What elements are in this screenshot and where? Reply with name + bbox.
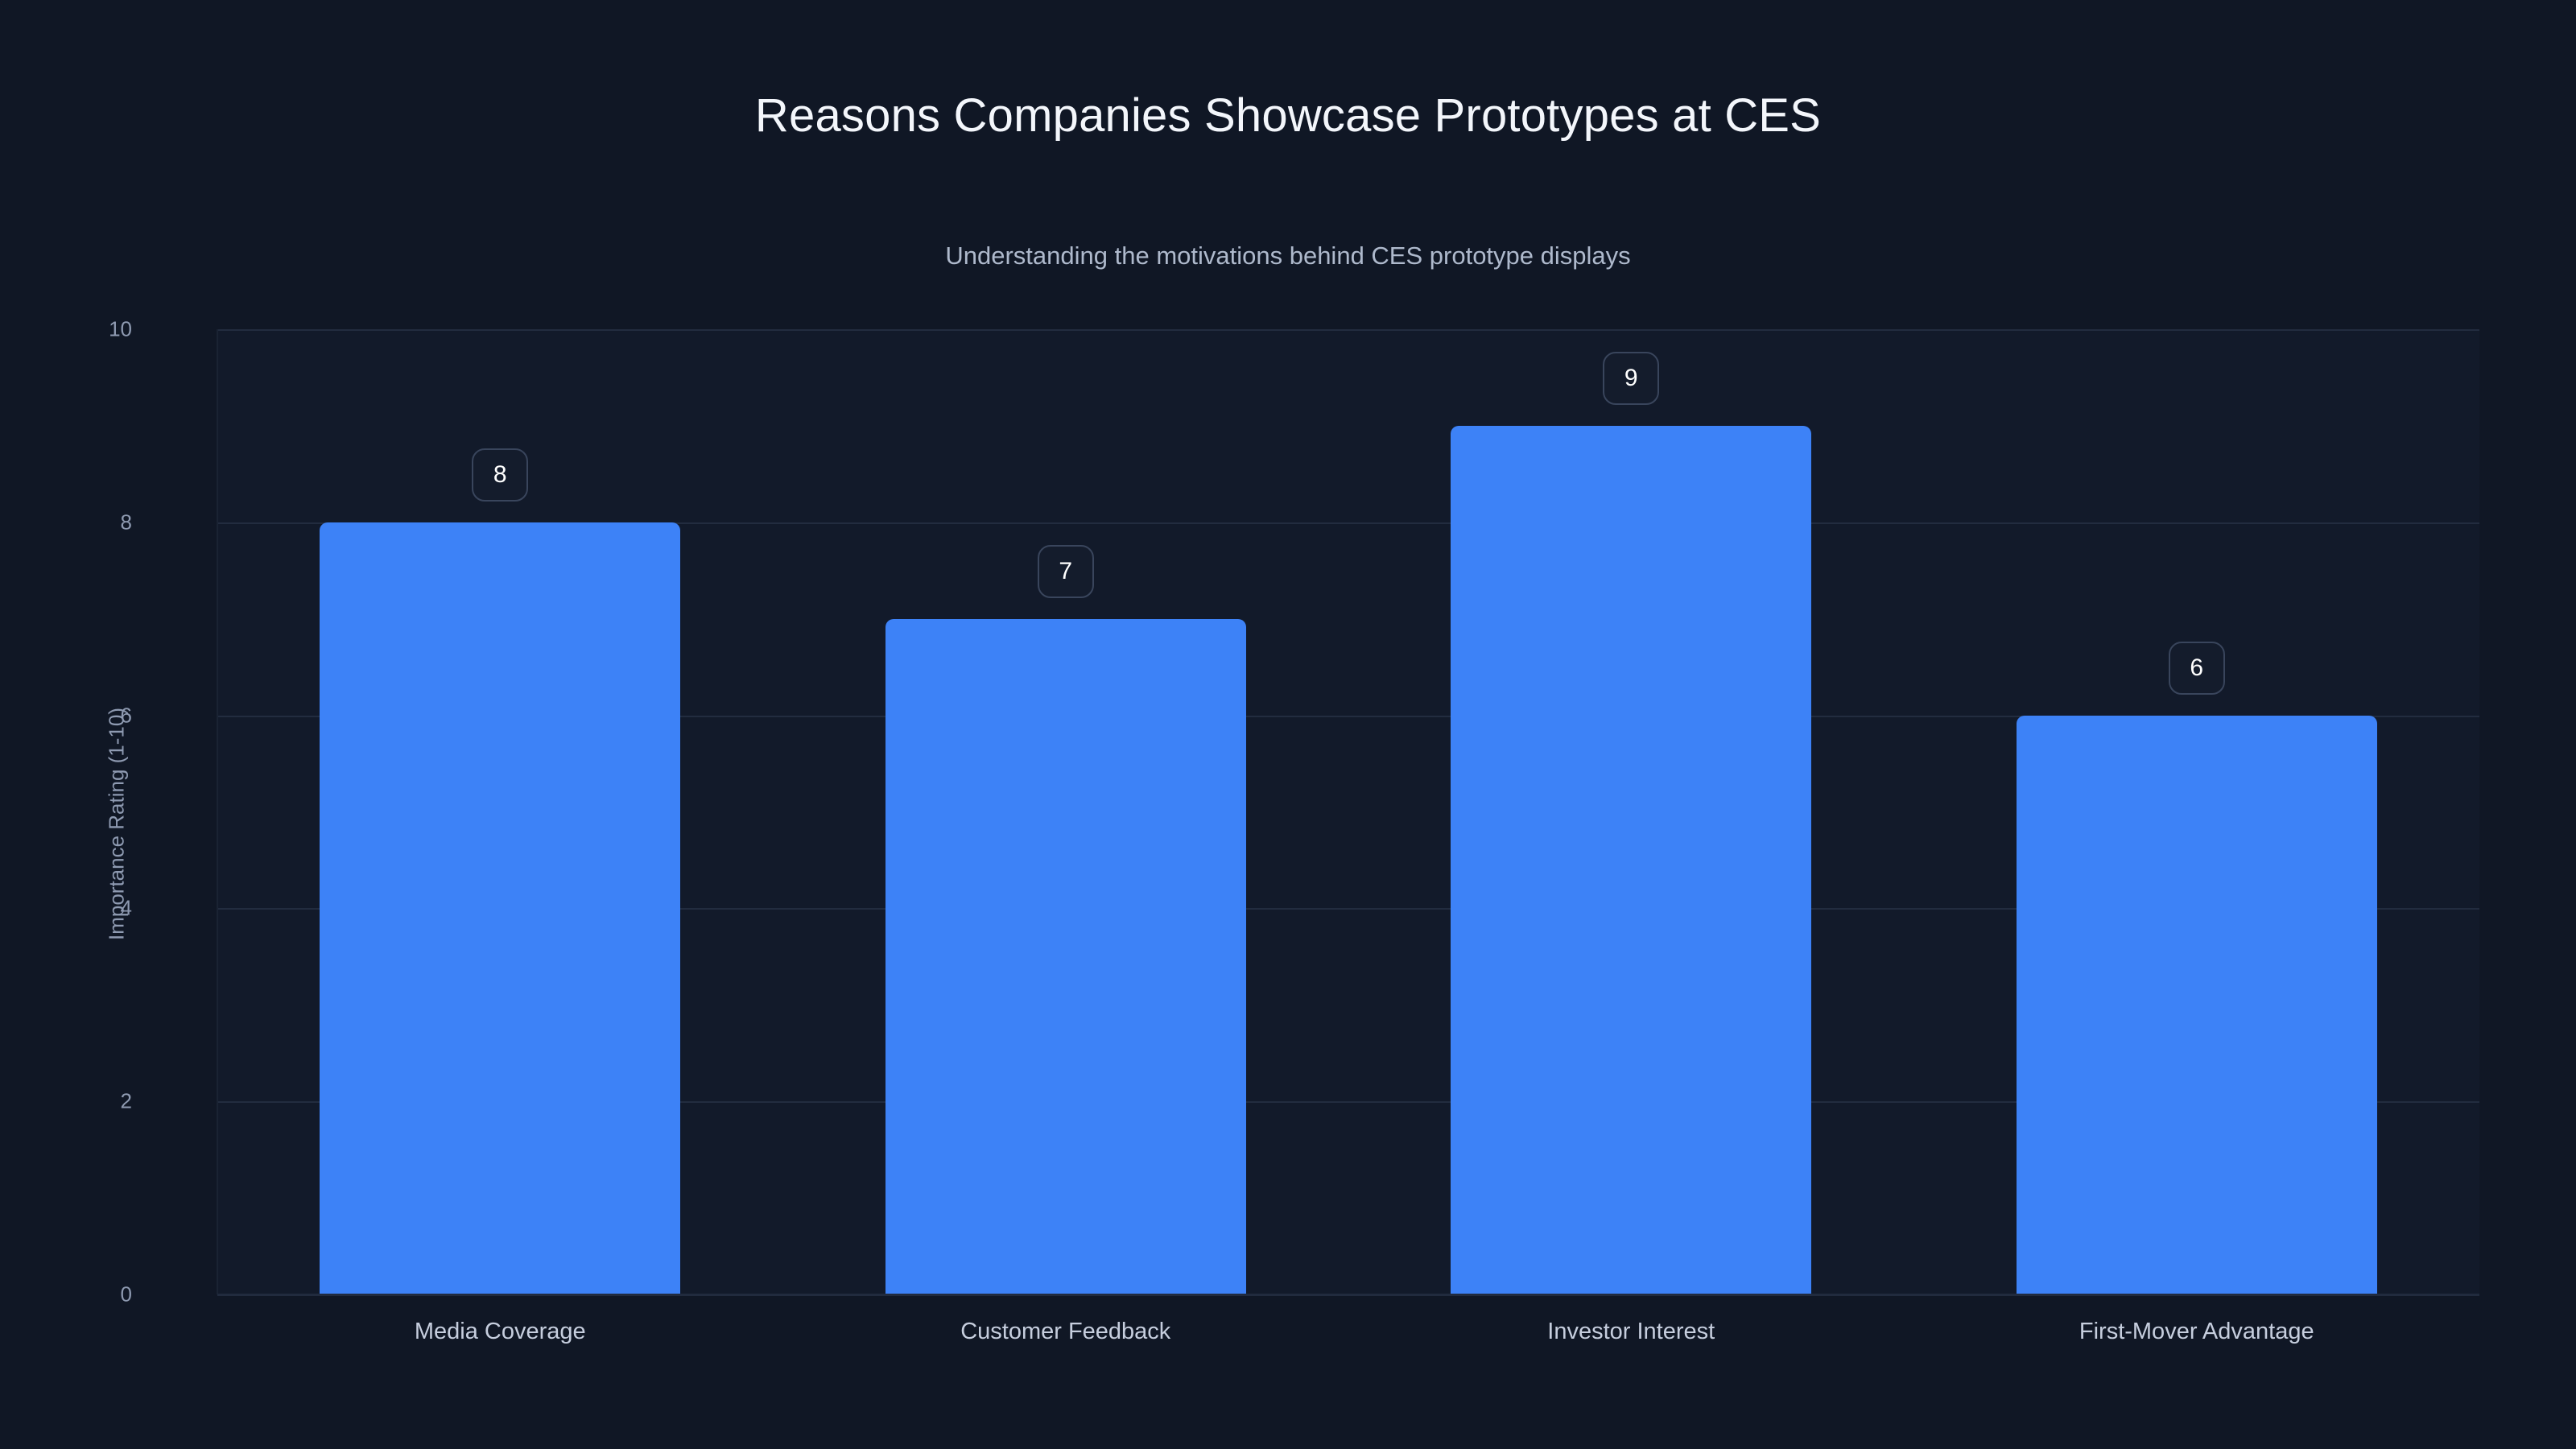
y-axis-tick-label: 2 [35,1089,132,1114]
x-axis-tick-label: First-Mover Advantage [1914,1319,2480,1345]
bar-value-label: 7 [1038,545,1094,598]
bar-group: 6 [1914,329,2480,1294]
bar-value-label: 8 [472,448,528,502]
plot-area: 8796 [217,329,2479,1294]
bar[interactable] [1451,426,1811,1294]
bar[interactable] [320,522,680,1294]
bar-chart-figure: Reasons Companies Showcase Prototypes at… [0,0,2576,1449]
bar[interactable] [2017,716,2377,1294]
y-axis-tick-label: 6 [35,703,132,728]
y-axis-tick-label: 10 [35,317,132,342]
y-axis-line [217,329,218,1294]
x-axis-tick-label: Customer Feedback [783,1319,1349,1345]
y-axis-tick-label: 0 [35,1282,132,1307]
bar-value-label: 6 [2169,642,2225,695]
x-axis-line [217,1294,2479,1296]
y-axis-tick-label: 4 [35,896,132,921]
bar-group: 8 [217,329,783,1294]
bar[interactable] [885,619,1246,1294]
bar-group: 9 [1348,329,1914,1294]
bar-value-label: 9 [1603,352,1659,405]
x-axis-tick-label: Media Coverage [217,1319,783,1345]
chart-subtitle: Understanding the motivations behind CES… [0,242,2576,270]
y-axis-tick-label: 8 [35,510,132,535]
x-axis-tick-label: Investor Interest [1348,1319,1914,1345]
bar-group: 7 [783,329,1349,1294]
chart-title: Reasons Companies Showcase Prototypes at… [0,89,2576,142]
